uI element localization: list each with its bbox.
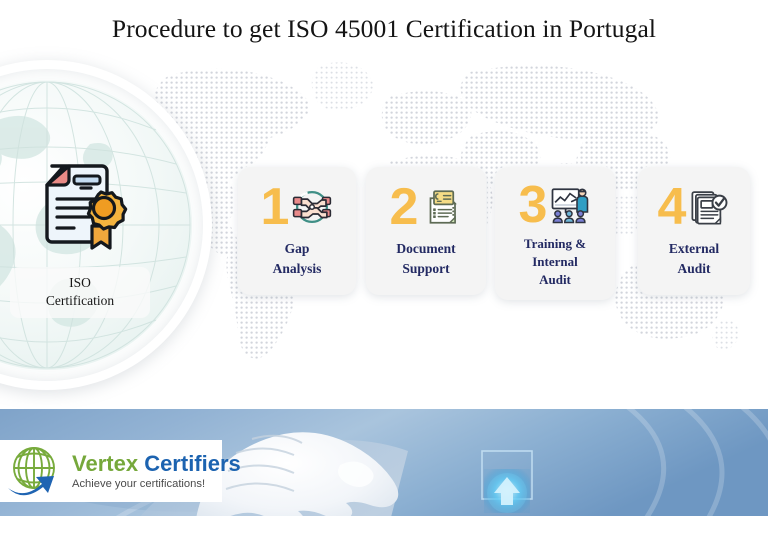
page-title: Procedure to get ISO 45001 Certification… — [112, 14, 656, 44]
step-card-header: 4 — [644, 181, 744, 233]
brand-name: Vertex Certifiers — [72, 452, 241, 475]
step-label-line2: Analysis — [273, 259, 322, 279]
step-label: External Audit — [669, 239, 719, 278]
brand-name-part1: Vertex — [72, 451, 138, 476]
step-card-header: 1 — [244, 181, 350, 233]
step-number: 4 — [658, 181, 686, 233]
step-label-line2: Audit — [669, 259, 719, 279]
documents-note-icon — [420, 186, 462, 228]
step-card-header: 2 — [372, 181, 480, 233]
documents-check-icon — [688, 186, 730, 228]
step-card-gap-analysis[interactable]: 1 Gap Analysis — [238, 167, 356, 295]
step-number: 2 — [390, 181, 418, 233]
step-label-line1: External — [669, 239, 719, 259]
handshake-circle-icon — [291, 186, 333, 228]
step-card-header: 3 — [501, 179, 609, 231]
globe-arrow-logo-icon — [6, 444, 68, 498]
steps-row: 1 Gap Analysis — [0, 0, 768, 400]
title-bar: Procedure to get ISO 45001 Certification… — [0, 0, 768, 58]
brand-tagline: Achieve your certifications! — [72, 478, 241, 490]
training-presentation-icon — [549, 184, 591, 226]
step-number: 3 — [519, 179, 547, 231]
step-label: Training & Internal Audit — [524, 235, 586, 290]
brand-name-part2: Certifiers — [144, 451, 241, 476]
step-label: Document Support — [396, 239, 455, 278]
step-number: 1 — [261, 181, 289, 233]
step-label-line2: Support — [396, 259, 455, 279]
step-card-training-internal-audit[interactable]: 3 — [495, 167, 615, 300]
step-card-external-audit[interactable]: 4 External Aud — [638, 167, 750, 295]
step-card-document-support[interactable]: 2 — [366, 167, 486, 295]
step-label: Gap Analysis — [273, 239, 322, 278]
step-label-line1: Document — [396, 239, 455, 259]
infographic-canvas: ISO Certification Procedure to get ISO 4… — [0, 0, 768, 543]
brand-logo-text: Vertex Certifiers Achieve your certifica… — [72, 452, 241, 489]
step-label-line2: Internal — [524, 253, 586, 271]
bottom-white-strip — [0, 516, 768, 543]
step-label-line1: Training & — [524, 235, 586, 253]
step-label-line3: Audit — [524, 271, 586, 289]
brand-logo: Vertex Certifiers Achieve your certifica… — [0, 440, 222, 502]
step-label-line1: Gap — [273, 239, 322, 259]
